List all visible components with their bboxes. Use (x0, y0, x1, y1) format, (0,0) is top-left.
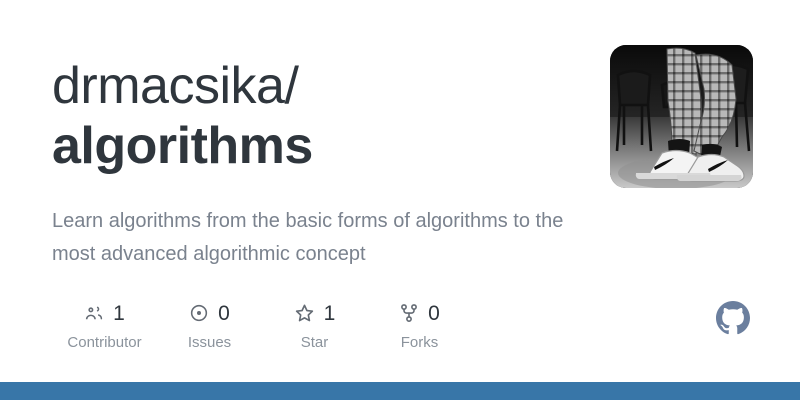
star-icon (294, 303, 315, 324)
issue-opened-icon (189, 303, 209, 323)
repo-stats: 1 Contributor 0 Issues (52, 300, 472, 350)
repo-title: drmacsika/ algorithms (52, 56, 592, 176)
avatar-photo (610, 45, 753, 188)
repo-owner: drmacsika/ (52, 56, 592, 116)
stat-stars: 1 Star (262, 300, 367, 350)
stat-forks-top: 0 (399, 300, 440, 326)
stat-contributors-count: 1 (113, 303, 125, 324)
avatar (610, 45, 753, 188)
repo-description: Learn algorithms from the basic forms of… (52, 205, 592, 271)
stat-issues-label: Issues (188, 335, 231, 350)
stat-contributors-label: Contributor (67, 335, 141, 350)
stat-issues: 0 Issues (157, 300, 262, 350)
people-icon (84, 303, 104, 323)
stat-stars-label: Star (301, 335, 329, 350)
stat-forks-label: Forks (401, 335, 439, 350)
stat-stars-count: 1 (324, 303, 336, 324)
stat-issues-count: 0 (218, 303, 230, 324)
repo-forked-icon (399, 303, 419, 323)
repo-name: algorithms (52, 116, 592, 176)
bottom-accent-bar (0, 382, 800, 400)
stat-issues-top: 0 (189, 300, 230, 326)
stat-forks-count: 0 (428, 303, 440, 324)
github-mark-icon (716, 301, 750, 335)
stat-contributors-top: 1 (84, 300, 125, 326)
stat-forks: 0 Forks (367, 300, 472, 350)
stat-stars-top: 1 (294, 300, 336, 326)
repo-social-preview-card: drmacsika/ algorithms Learn algorithms f… (0, 0, 800, 400)
stat-contributors: 1 Contributor (52, 300, 157, 350)
